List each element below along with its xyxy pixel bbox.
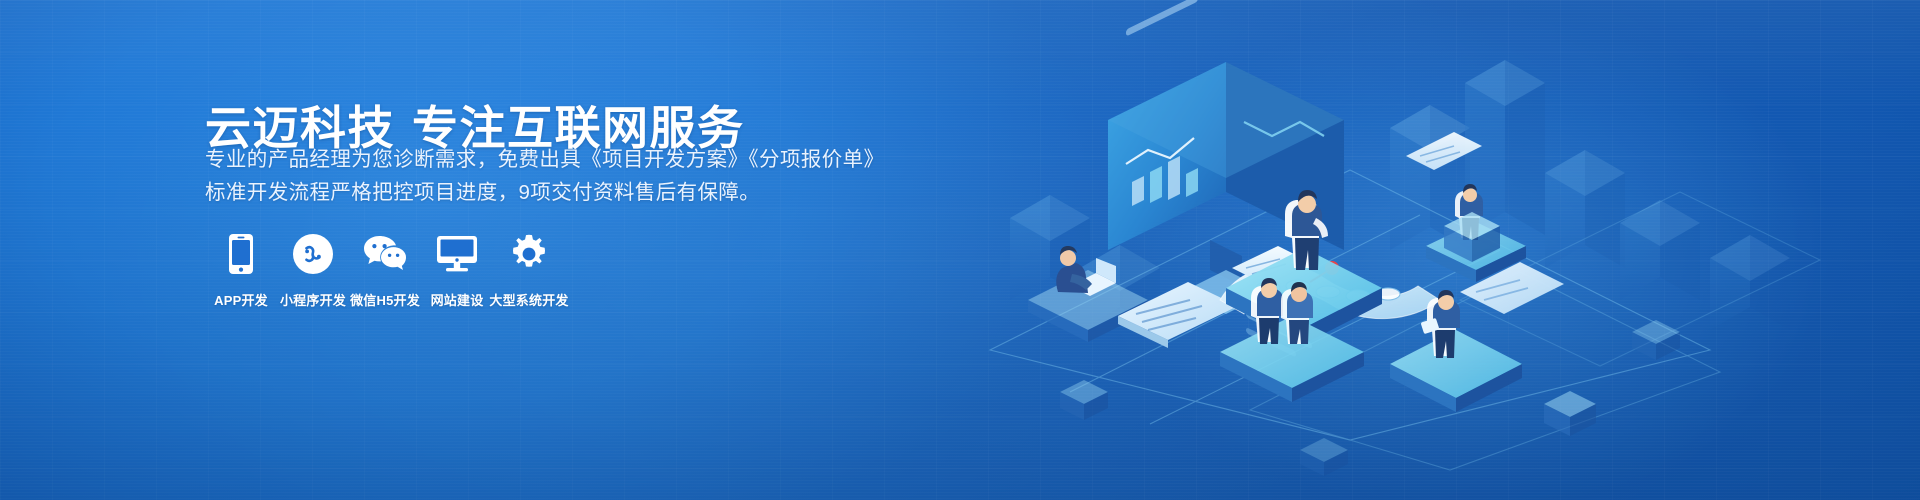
service-item-wechat-h5[interactable]: 微信H5开发: [349, 232, 421, 309]
service-label: 微信H5开发: [350, 290, 420, 309]
wechat-icon: [362, 232, 408, 276]
isometric-team-dashboard-illustration: [920, 0, 1920, 500]
mini-program-icon: [292, 232, 334, 276]
service-item-mini-program[interactable]: 小程序开发: [277, 232, 349, 309]
service-label: 小程序开发: [280, 290, 346, 309]
service-label: 网站建设: [431, 290, 484, 309]
service-item-app-development[interactable]: APP开发: [205, 232, 277, 309]
monitor-icon: [436, 232, 478, 276]
hero-banner: 云迈科技专注互联网服务 专业的产品经理为您诊断需求，免费出具《项目开发方案》《分…: [0, 0, 1920, 500]
banner-text-content: 云迈科技专注互联网服务 专业的产品经理为您诊断需求，免费出具《项目开发方案》《分…: [205, 0, 965, 500]
service-label: 大型系统开发: [489, 290, 568, 309]
subtitle-line-1: 专业的产品经理为您诊断需求，免费出具《项目开发方案》《分项报价单》: [205, 143, 884, 176]
floating-cubes: [1060, 212, 1680, 476]
service-label: APP开发: [214, 290, 268, 309]
banner-subtitle: 专业的产品经理为您诊断需求，免费出具《项目开发方案》《分项报价单》 标准开发流程…: [205, 143, 884, 209]
service-item-website[interactable]: 网站建设: [421, 232, 493, 309]
subtitle-line-2: 标准开发流程严格把控项目进度，9项交付资料售后有保障。: [205, 176, 884, 209]
service-item-large-system[interactable]: 大型系统开发: [493, 232, 565, 309]
mobile-phone-icon: [228, 232, 254, 276]
service-list: APP开发 小程序开发: [205, 232, 565, 309]
gear-icon: [509, 232, 549, 276]
